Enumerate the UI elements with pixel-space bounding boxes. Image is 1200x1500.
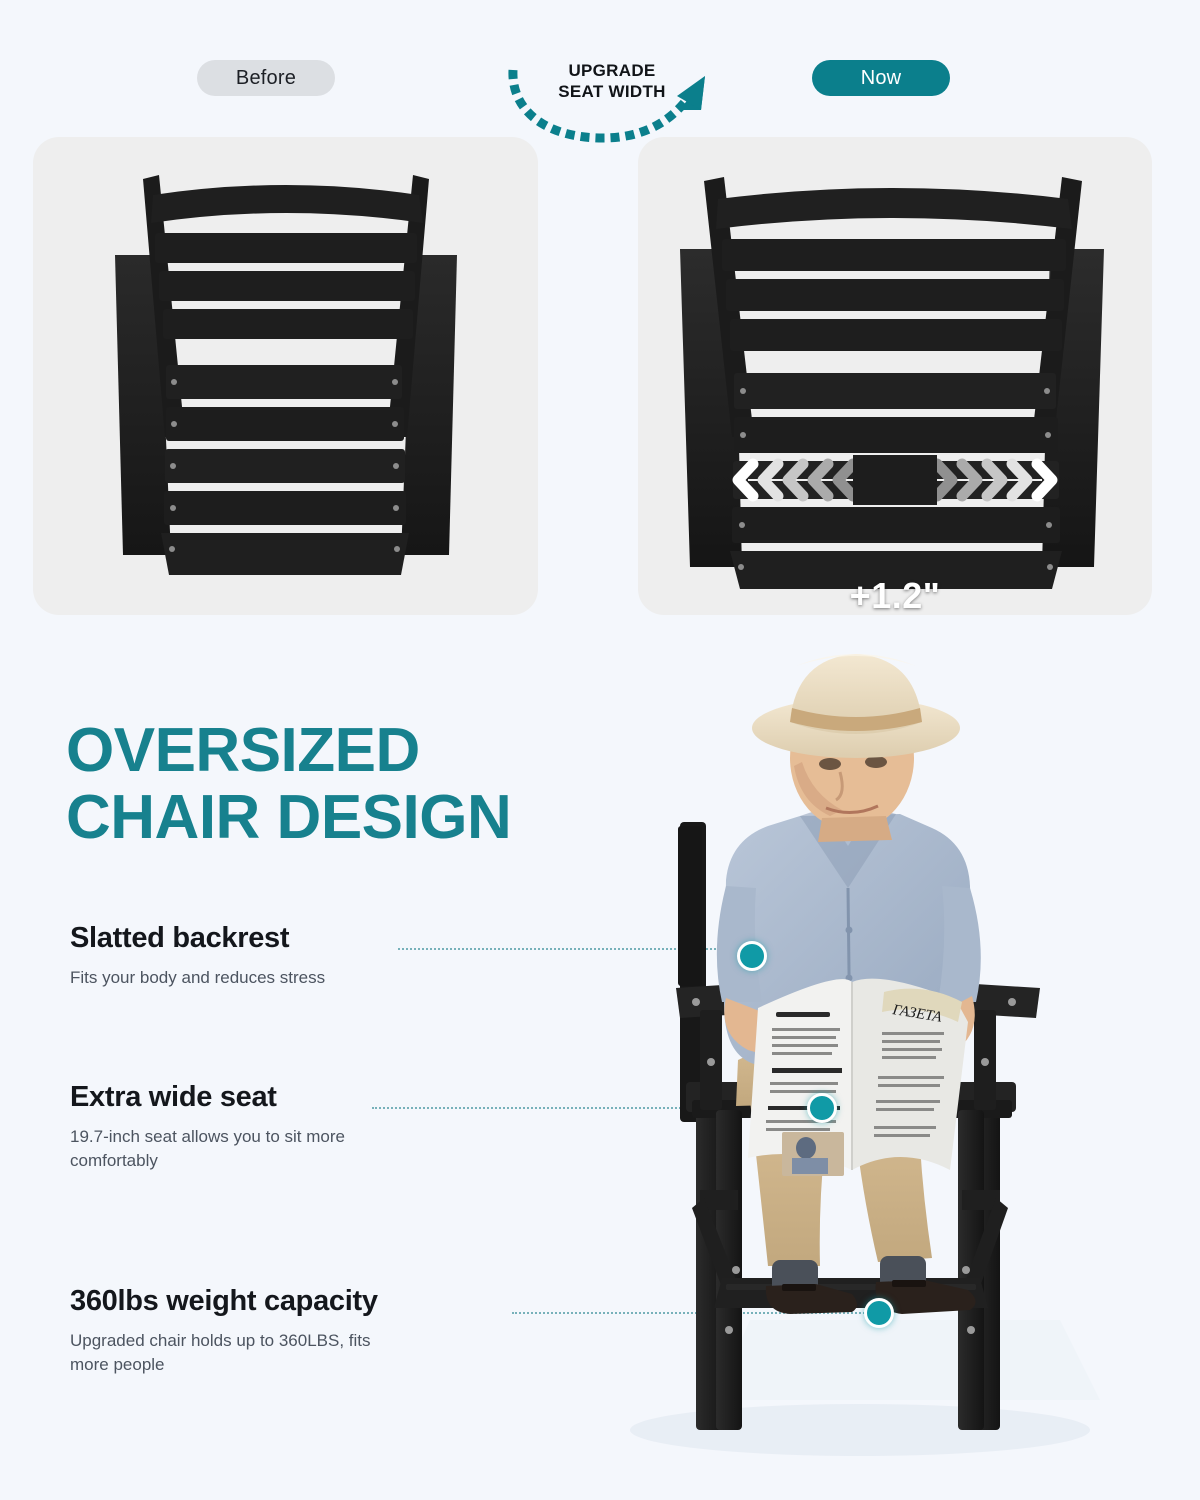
comparison-cards: +1.2" [0,137,1200,615]
upgrade-callout: UPGRADE SEAT WIDTH [505,48,720,143]
compare-header: Before Now UPGRADE SEAT WIDTH [0,0,1200,135]
now-card: +1.2" [638,137,1152,615]
before-badge: Before [197,60,335,96]
teal-dot-marker-icon [864,1298,894,1328]
infographic-page: Before Now UPGRADE SEAT WIDTH [0,0,1200,1500]
teal-dot-marker-icon [737,941,767,971]
newspaper-icon: ГАЗЕТА [748,979,968,1176]
before-chair-illustration [33,137,538,615]
seat-width-value: +1.2" [638,575,1152,615]
now-badge: Now [812,60,950,96]
man-reading-in-chair-illustration: ГАЗЕТА [500,630,1200,1500]
feature-description: Upgraded chair holds up to 360LBS, fits … [70,1329,400,1377]
product-lifestyle-photo: ГАЗЕТА [500,630,1200,1500]
now-chair-illustration [638,137,1152,615]
feature-description: Fits your body and reduces stress [70,966,400,990]
teal-dot-marker-icon [807,1093,837,1123]
upgrade-text: UPGRADE SEAT WIDTH [537,60,687,103]
before-card [33,137,538,615]
upgrade-line-2: SEAT WIDTH [537,81,687,102]
upgrade-line-1: UPGRADE [537,60,687,81]
feature-description: 19.7-inch seat allows you to sit more co… [70,1125,400,1173]
